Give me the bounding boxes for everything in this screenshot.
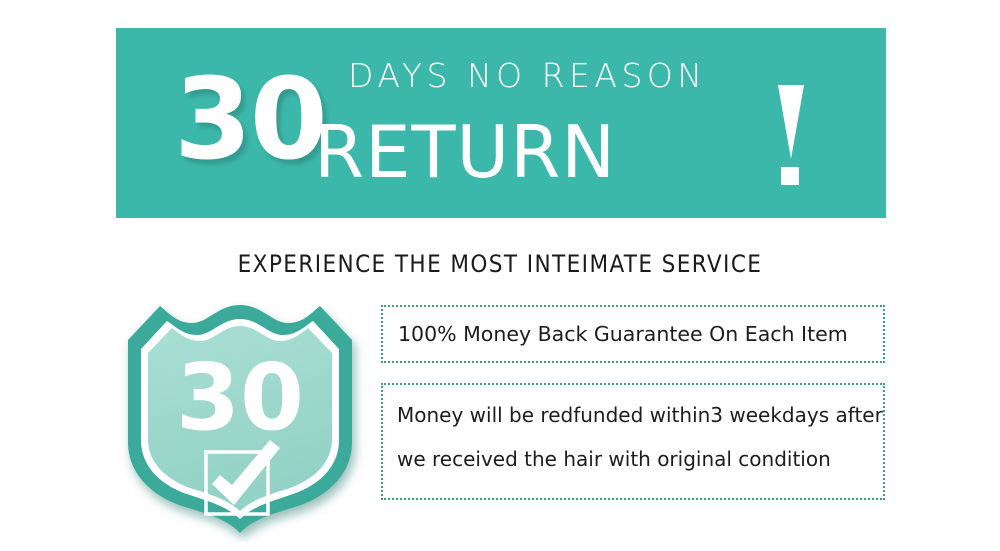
exclamation-mark-icon: [770, 85, 810, 185]
guarantee-text-line: Money will be redfunded within3 weekdays…: [397, 393, 869, 437]
guarantee-text-line: 100% Money Back Guarantee On Each Item: [398, 324, 868, 345]
guarantee-text-line: we received the hair with original condi…: [397, 437, 869, 481]
guarantee-box-money-back: 100% Money Back Guarantee On Each Item: [381, 305, 885, 363]
guarantee-shield-badge: 30: [112, 292, 368, 542]
section-subtitle: EXPERIENCE THE MOST INTEIMATE SERVICE: [0, 250, 1000, 278]
shield-number-30: 30: [176, 344, 304, 451]
promo-banner: DAYS NO REASON 30 RETURN: [116, 28, 886, 218]
banner-return-text: RETURN: [314, 116, 616, 188]
banner-number-30: 30: [174, 64, 326, 176]
guarantee-box-refund-window: Money will be redfunded within3 weekdays…: [381, 383, 885, 500]
exclamation-stem: [778, 85, 804, 159]
exclamation-dot: [781, 167, 799, 185]
banner-days-text: DAYS NO REASON: [348, 56, 707, 95]
